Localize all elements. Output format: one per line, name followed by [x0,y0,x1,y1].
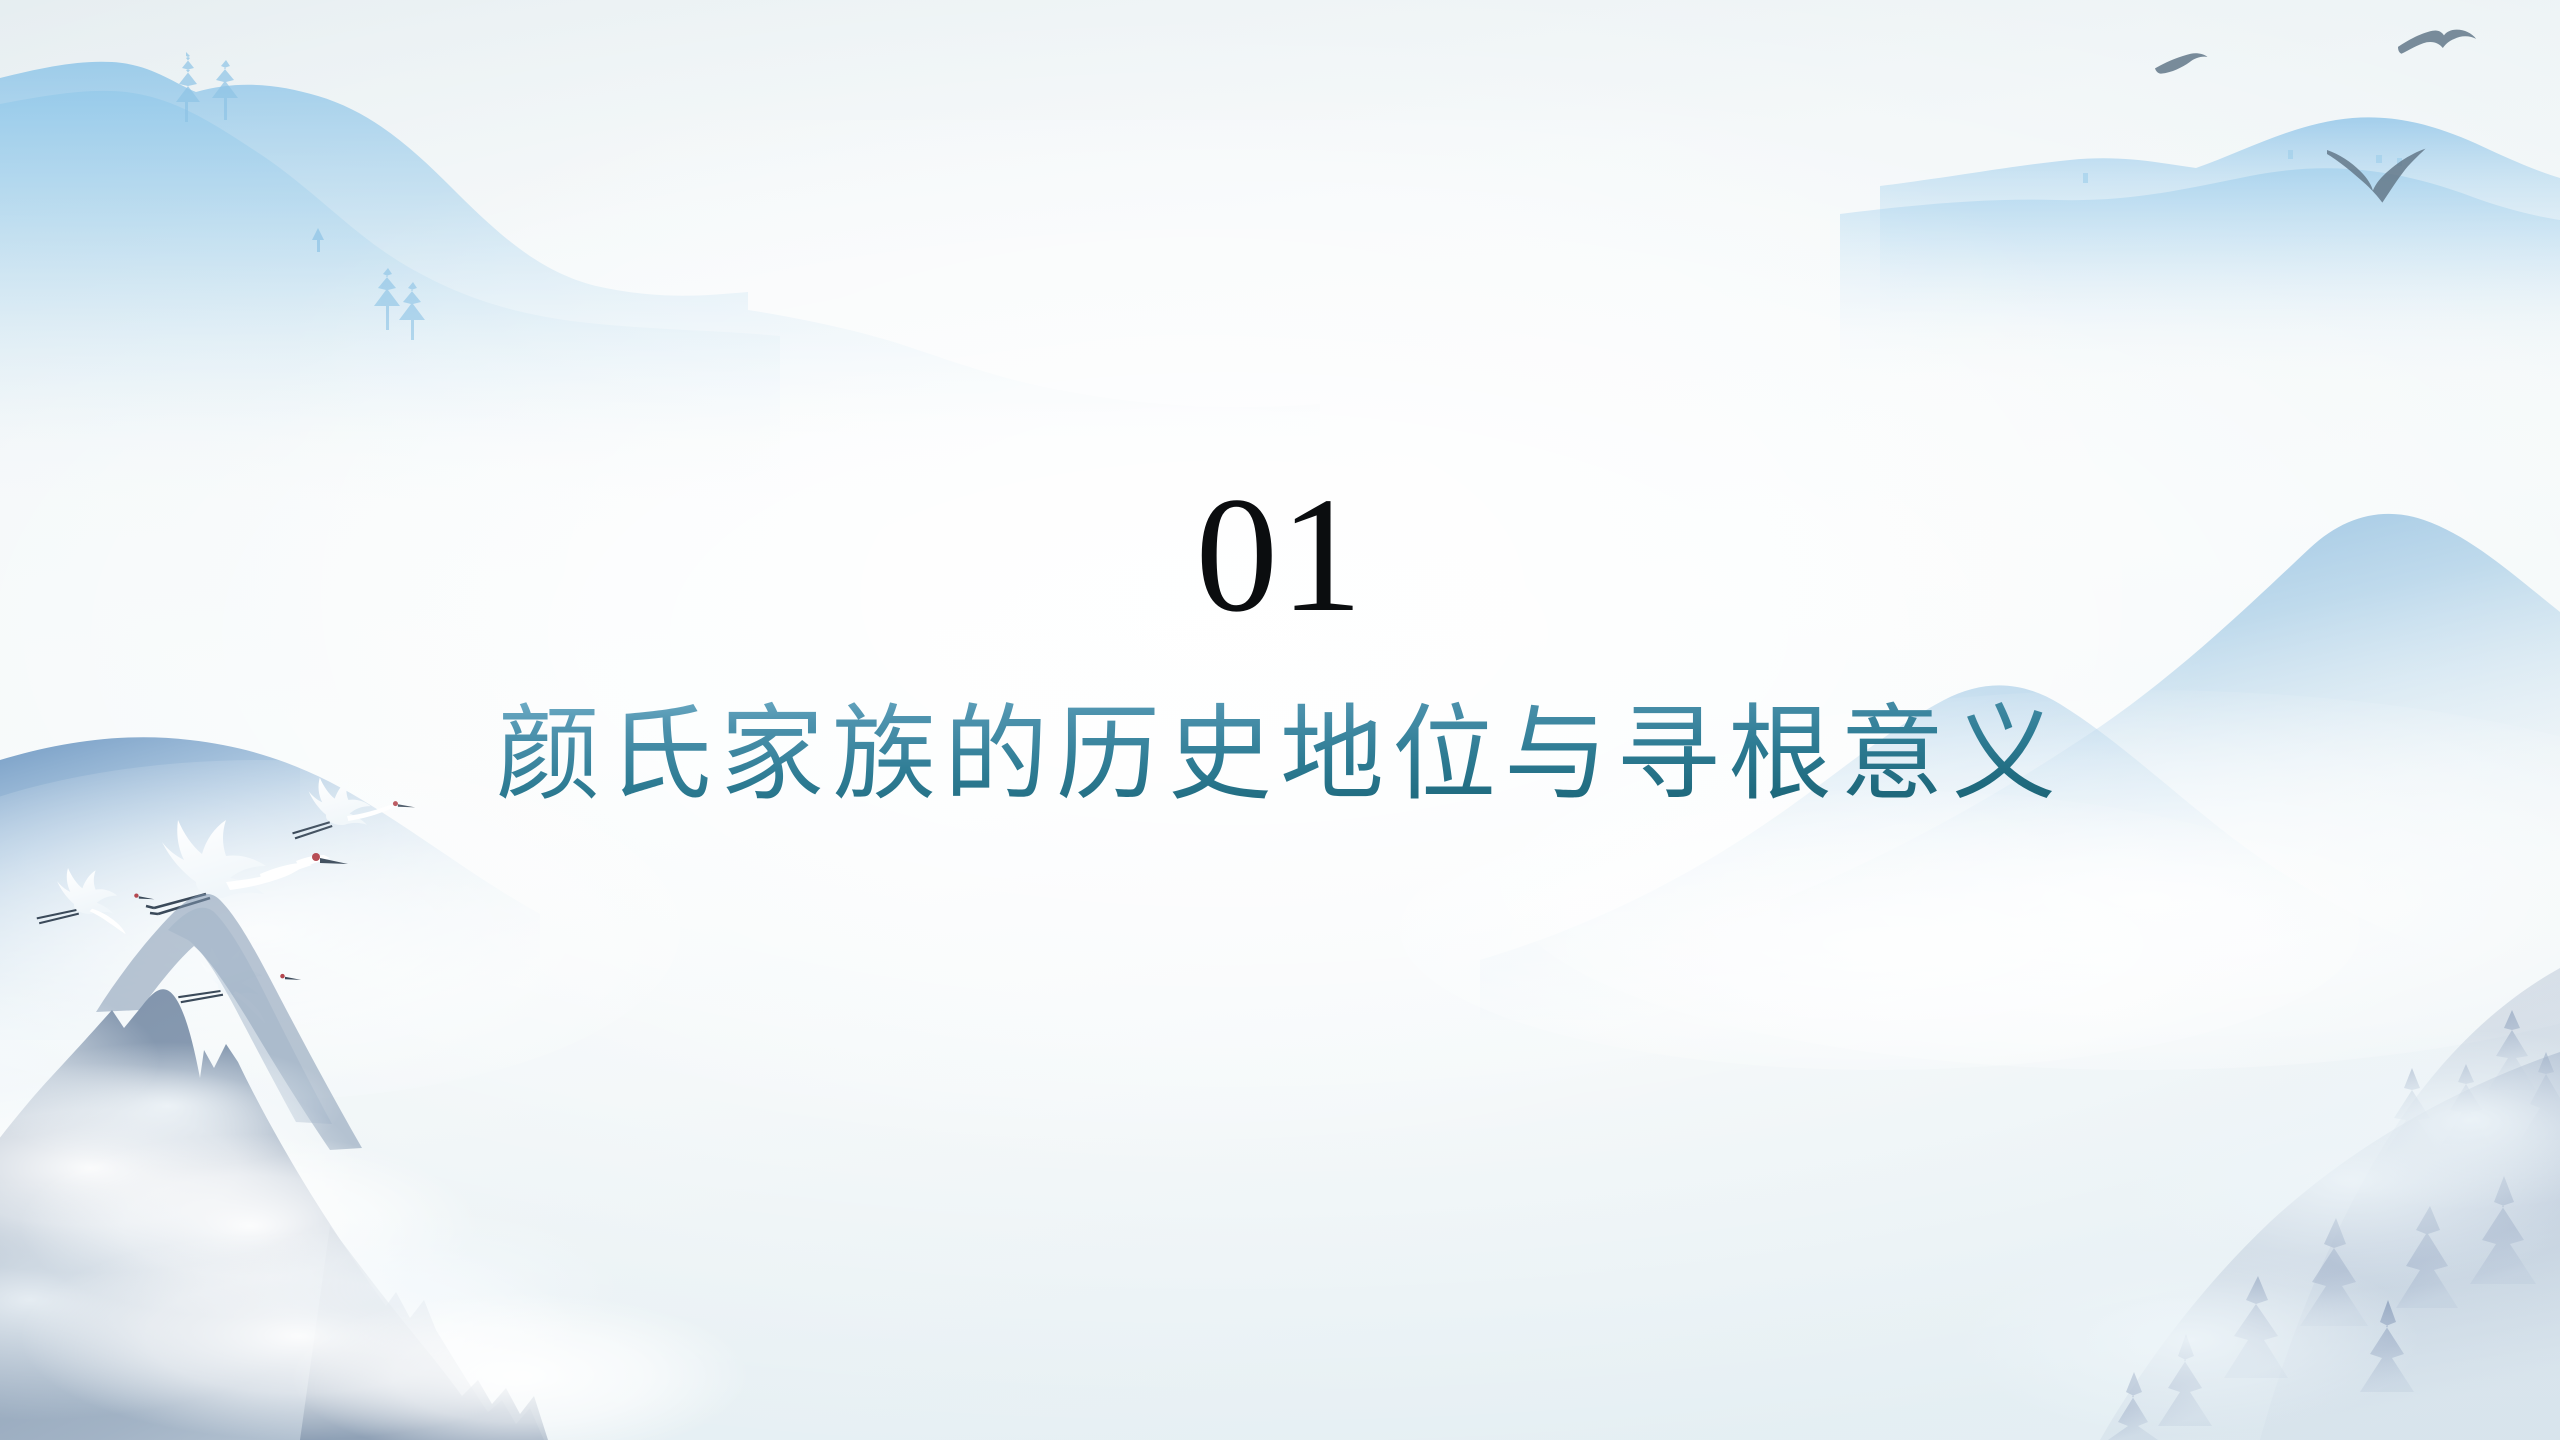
section-number: 01 [1196,472,1365,637]
section-title: 颜氏家族的历史地位与寻根意义 [410,695,2150,818]
slide-content: 01 颜氏家族的历史地位与寻根意义 [0,0,2560,1440]
slide-canvas: 01 颜氏家族的历史地位与寻根意义 [0,0,2560,1440]
